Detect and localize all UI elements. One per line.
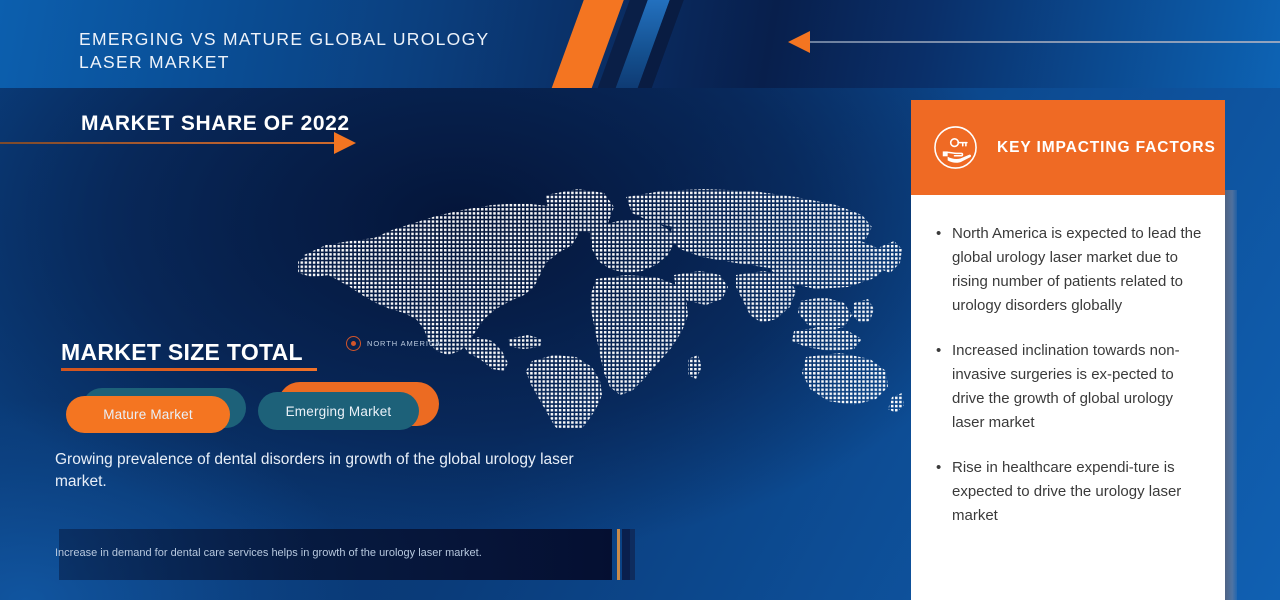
header-banner: EMERGING VS MATURE GLOBAL UROLOGY LASER … xyxy=(0,0,1280,88)
page-title: EMERGING VS MATURE GLOBAL UROLOGY LASER … xyxy=(79,28,549,74)
key-factors-card-shadow xyxy=(1225,190,1237,600)
legend-pill-label: Emerging Market xyxy=(258,392,419,430)
legend-pill-mature-market[interactable]: Mature Market xyxy=(66,388,246,436)
north-america-label: NORTH AMERICA xyxy=(367,339,441,348)
header-rule xyxy=(810,41,1280,43)
bullet-glyph: • xyxy=(936,339,952,435)
bullet-glyph: • xyxy=(936,456,952,528)
hand-holding-key-icon xyxy=(932,124,979,171)
market-share-title: MARKET SHARE OF 2022 xyxy=(81,112,350,136)
arrow-left-icon xyxy=(788,31,810,53)
north-america-marker: NORTH AMERICA xyxy=(346,336,441,351)
lead-paragraph: Growing prevalence of dental disorders i… xyxy=(55,449,575,493)
list-item-text: Increased inclination towards non-invasi… xyxy=(952,339,1208,435)
footer-caption: Increase in demand for dental care servi… xyxy=(55,545,615,561)
footer-accent-bar-1 xyxy=(617,529,620,580)
list-item: • North America is expected to lead the … xyxy=(936,222,1208,318)
legend-pill-emerging-market[interactable]: Emerging Market xyxy=(258,382,443,436)
footer-accent-bar-3 xyxy=(630,529,635,580)
target-ring-icon xyxy=(346,336,361,351)
bullet-glyph: • xyxy=(936,222,952,318)
list-item-text: North America is expected to lead the gl… xyxy=(952,222,1208,318)
list-item: • Rise in healthcare expendi-ture is exp… xyxy=(936,456,1208,528)
market-size-title: MARKET SIZE TOTAL xyxy=(61,339,303,366)
key-factors-list: • North America is expected to lead the … xyxy=(936,222,1208,549)
market-share-rule xyxy=(0,142,338,144)
legend-pill-label: Mature Market xyxy=(66,396,230,433)
key-factors-header: KEY IMPACTING FACTORS xyxy=(911,100,1225,195)
list-item: • Increased inclination towards non-inva… xyxy=(936,339,1208,435)
list-item-text: Rise in healthcare expendi-ture is expec… xyxy=(952,456,1208,528)
footer-accent-bar-2 xyxy=(622,529,630,580)
key-factors-title: KEY IMPACTING FACTORS xyxy=(997,139,1216,157)
market-size-underline xyxy=(61,368,317,371)
infographic-canvas: EMERGING VS MATURE GLOBAL UROLOGY LASER … xyxy=(0,0,1280,600)
